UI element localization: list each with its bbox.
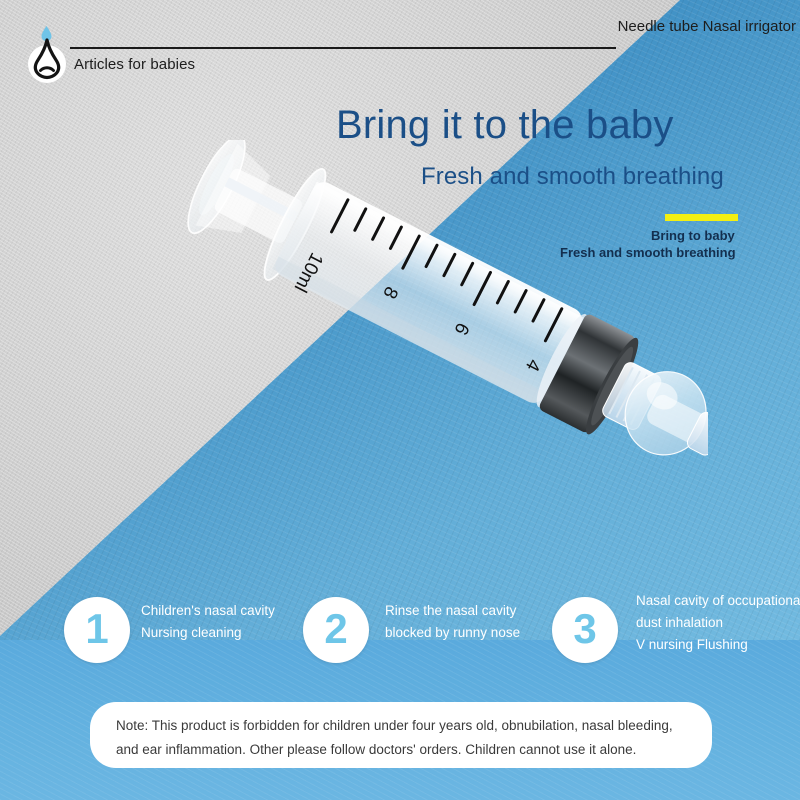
step-circle-1[interactable]: 1 bbox=[64, 597, 130, 663]
step-text-3: Nasal cavity of occupational dust inhala… bbox=[636, 590, 800, 656]
step-circle-3[interactable]: 3 bbox=[552, 597, 618, 663]
step-text-2: Rinse the nasal cavity blocked by runny … bbox=[385, 600, 520, 644]
disclaimer-line-2: and ear inflammation. Other please follo… bbox=[116, 738, 686, 762]
poster-canvas: Articles for babies Needle tube Nasal ir… bbox=[0, 0, 800, 800]
step-number-2: 2 bbox=[324, 608, 347, 650]
header-divider-line bbox=[70, 47, 616, 49]
step-text-1: Children's nasal cavity Nursing cleaning bbox=[141, 600, 275, 644]
step-number-1: 1 bbox=[85, 608, 108, 650]
step-3-line-2: dust inhalation bbox=[636, 612, 800, 634]
product-image-syringe: 10ml 8 6 4 2 bbox=[108, 140, 708, 570]
nose-icon bbox=[27, 37, 67, 83]
step-number-3: 3 bbox=[573, 608, 596, 650]
step-2-line-1: Rinse the nasal cavity bbox=[385, 600, 520, 622]
step-3-line-3: V nursing Flushing bbox=[636, 634, 800, 656]
step-3-line-1: Nasal cavity of occupational bbox=[636, 590, 800, 612]
step-circle-2[interactable]: 2 bbox=[303, 597, 369, 663]
brand-label: Articles for babies bbox=[74, 56, 195, 73]
disclaimer-line-1: Note: This product is forbidden for chil… bbox=[116, 714, 686, 738]
disclaimer-card: Note: This product is forbidden for chil… bbox=[90, 702, 712, 768]
step-2-line-2: blocked by runny nose bbox=[385, 622, 520, 644]
step-1-line-2: Nursing cleaning bbox=[141, 622, 275, 644]
step-1-line-1: Children's nasal cavity bbox=[141, 600, 275, 622]
product-kicker: Needle tube Nasal irrigator bbox=[618, 18, 796, 35]
